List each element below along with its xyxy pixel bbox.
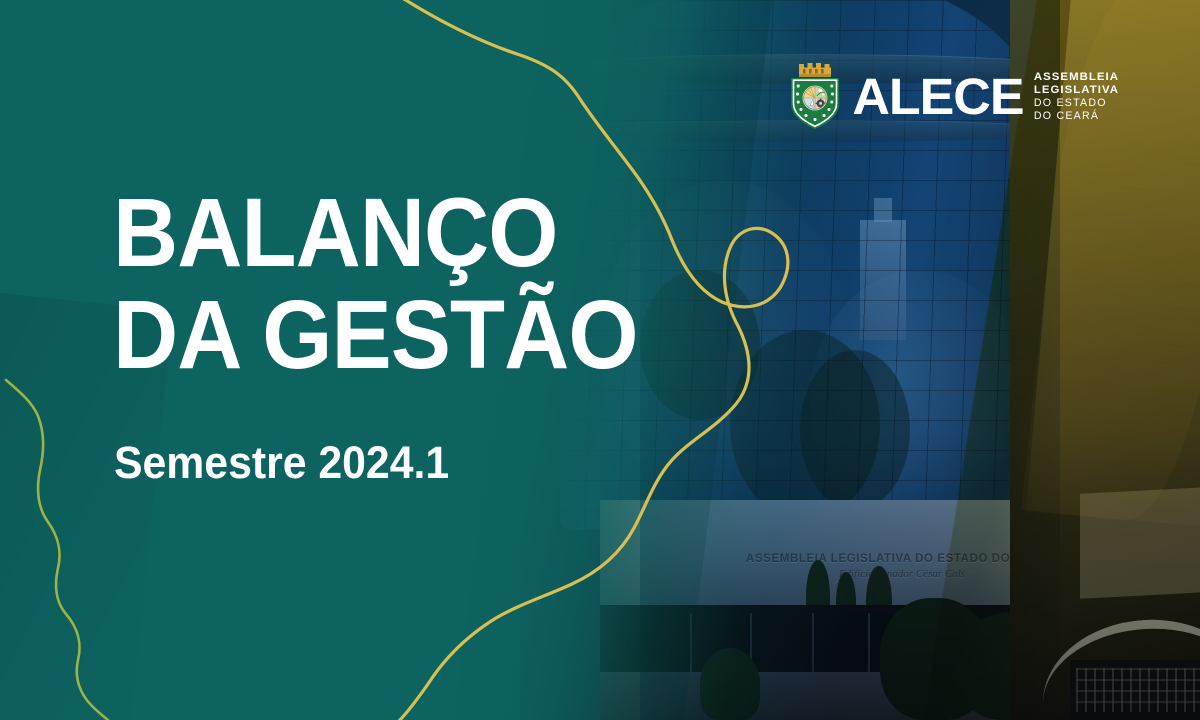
subtitle: Semestre 2024.1	[114, 437, 449, 489]
alece-wordmark: ALECE	[852, 71, 1023, 122]
headline-block: BALANÇO DA GESTÃO	[113, 186, 677, 381]
tagline-line-2: LEGISLATIVA	[1034, 84, 1119, 97]
alece-logo: ALECE ASSEMBLEIA LEGISLATIVA DO ESTADO D…	[786, 62, 1119, 130]
balanco-da-gestao-banner: ASSEMBLEIA LEGISLATIVA DO ESTADO DO CEAR…	[0, 0, 1200, 720]
ceara-coat-of-arms-icon	[786, 62, 844, 130]
tagline-line-4: DO CEARÁ	[1034, 110, 1119, 123]
tagline-line-3: DO ESTADO	[1034, 97, 1119, 110]
headline-line-2: DA GESTÃO	[113, 288, 638, 381]
tagline-line-1: ASSEMBLEIA	[1034, 71, 1119, 84]
headline-line-1: BALANÇO	[113, 186, 638, 279]
alece-tagline: ASSEMBLEIA LEGISLATIVA DO ESTADO DO CEAR…	[1034, 71, 1119, 123]
